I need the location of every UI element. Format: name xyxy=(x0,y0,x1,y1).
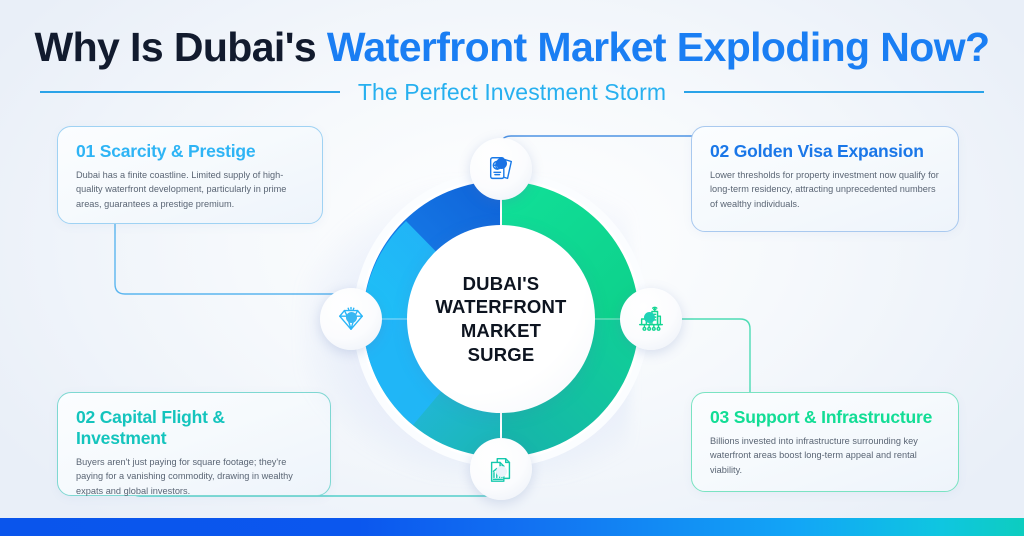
page-title-dark: Why Is Dubai's xyxy=(35,24,327,70)
subtitle-rule-right xyxy=(684,91,984,93)
card-body: Billions invested into infrastructure su… xyxy=(710,434,940,477)
connector-dot-right xyxy=(644,312,655,323)
page-subtitle: The Perfect Investment Storm xyxy=(358,79,666,106)
card-title: 02 Golden Visa Expansion xyxy=(710,141,940,162)
hub-line-2: WATERFRONT xyxy=(435,295,566,319)
page-title-highlight: Waterfront Market Exploding Now? xyxy=(327,24,990,70)
bottom-accent-bar xyxy=(0,518,1024,536)
passport-icon-bubble[interactable] xyxy=(470,138,532,200)
card-title: 01 Scarcity & Prestige xyxy=(76,141,304,162)
card-body: Lower thresholds for property investment… xyxy=(710,168,940,211)
subtitle-rule-left xyxy=(40,91,340,93)
card-capital-flight-investment[interactable]: 02 Capital Flight & Investment Buyers ar… xyxy=(57,392,331,496)
subtitle-row: The Perfect Investment Storm xyxy=(0,79,1024,105)
card-body: Dubai has a finite coastline. Limited su… xyxy=(76,168,304,211)
card-title: 03 Support & Infrastructure xyxy=(710,407,940,428)
hub-line-3: MARKET xyxy=(435,319,566,343)
card-title: 02 Capital Flight & Investment xyxy=(76,407,312,449)
page-header: Why Is Dubai's Waterfront Market Explodi… xyxy=(0,0,1024,118)
page-title: Why Is Dubai's Waterfront Market Explodi… xyxy=(0,24,1024,71)
connector-dot-left xyxy=(346,312,357,323)
market-surge-wheel: DUBAI'S WATERFRONT MARKET SURGE xyxy=(326,144,676,494)
card-scarcity-prestige[interactable]: 01 Scarcity & Prestige Dubai has a finit… xyxy=(57,126,323,224)
hub-line-1: DUBAI'S xyxy=(435,272,566,296)
hub-line-4: SURGE xyxy=(435,343,566,367)
card-body: Buyers aren't just paying for square foo… xyxy=(76,455,312,498)
wheel-hub-text: DUBAI'S WATERFRONT MARKET SURGE xyxy=(435,272,566,367)
card-support-infrastructure[interactable]: 03 Support & Infrastructure Billions inv… xyxy=(691,392,959,492)
connector-dot-top xyxy=(496,158,507,169)
card-golden-visa-expansion[interactable]: 02 Golden Visa Expansion Lower threshold… xyxy=(691,126,959,232)
wheel-hub: DUBAI'S WATERFRONT MARKET SURGE xyxy=(407,225,595,413)
connector-dot-bottom xyxy=(496,466,507,477)
